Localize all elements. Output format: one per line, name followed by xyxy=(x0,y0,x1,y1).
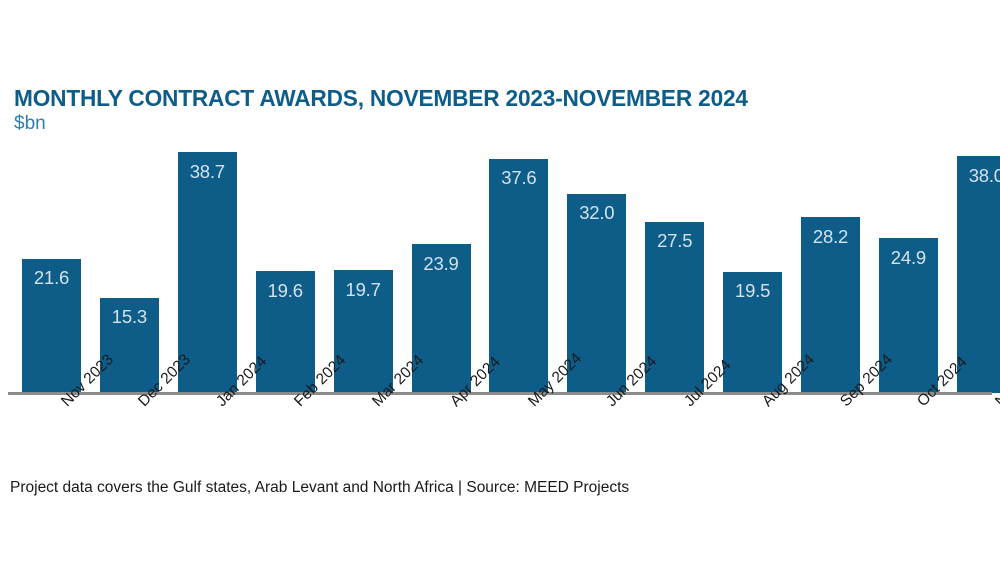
bar-value-label: 19.5 xyxy=(723,282,782,301)
bar-group: 19.6 xyxy=(256,0,315,393)
bar-series: 21.615.338.719.619.723.937.632.027.519.5… xyxy=(0,0,1000,393)
bar-group: 23.9 xyxy=(412,0,471,393)
bar-value-label: 38.7 xyxy=(178,163,237,182)
bar-group: 15.3 xyxy=(100,0,159,393)
bar-group: 19.5 xyxy=(723,0,782,393)
x-axis-tick-labels: Nov 2023Dec 2023Jan 2024Feb 2024Mar 2024… xyxy=(0,398,1000,468)
bar-group: 32.0 xyxy=(567,0,626,393)
bar-group: 28.2 xyxy=(801,0,860,393)
bar-value-label: 28.2 xyxy=(801,228,860,247)
bar-value-label: 37.6 xyxy=(489,169,548,188)
bar-group: 38.7 xyxy=(178,0,237,393)
bar-value-label: 15.3 xyxy=(100,308,159,327)
bar-value-label: 19.7 xyxy=(334,281,393,300)
bar-value-label: 27.5 xyxy=(645,232,704,251)
chart-figure: MONTHLY CONTRACT AWARDS, NOVEMBER 2023-N… xyxy=(0,0,1000,563)
bar-value-label: 38.0 xyxy=(957,167,1000,186)
bar[interactable] xyxy=(489,159,548,393)
chart-footnote: Project data covers the Gulf states, Ara… xyxy=(10,479,629,497)
bar-value-label: 21.6 xyxy=(22,269,81,288)
bar-value-label: 19.6 xyxy=(256,282,315,301)
bar-group: 27.5 xyxy=(645,0,704,393)
bar-group: 19.7 xyxy=(334,0,393,393)
bar-value-label: 32.0 xyxy=(567,204,626,223)
bar-group: 21.6 xyxy=(22,0,81,393)
bar-group: 38.0 xyxy=(957,0,1000,393)
bar-group: 37.6 xyxy=(489,0,548,393)
bar-value-label: 24.9 xyxy=(879,249,938,268)
bar-group: 24.9 xyxy=(879,0,938,393)
bar-value-label: 23.9 xyxy=(412,255,471,274)
